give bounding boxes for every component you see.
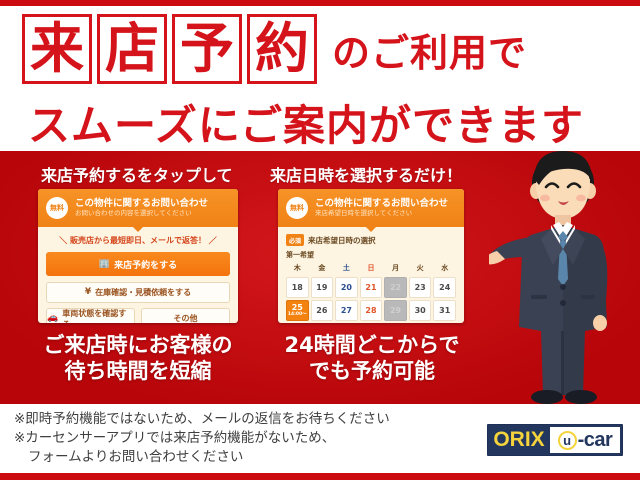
panel-heading-right: 来店日時を選択するだけ！ [270,162,462,186]
calendar-day-25[interactable]: 2514:00〜 [286,300,309,321]
car-icon: 🚗 [47,314,58,323]
other-button[interactable]: その他 [141,308,230,323]
calendar-dow-火: 火 [409,263,432,275]
stock-quote-button-label: 在庫確認・見積依頼をする [95,287,191,298]
calendar-day-27[interactable]: 27 [335,300,358,321]
reserve-visit-button-label: 来店予約をする [114,258,177,271]
headline-tail: のご利用で [332,22,527,77]
calendar-dow-月: 月 [384,263,407,275]
calendar-dow-金: 金 [311,263,334,275]
calendar-dow-水: 水 [433,263,456,275]
mock-inquiry-screen: 無料 この物件に関するお問い合わせ お問い合わせの内容を選択してください ＼ 販… [38,189,238,323]
preference-label: 第一希望 [286,250,456,260]
calendar-day-number: 28 [365,307,376,315]
calendar-day-18[interactable]: 18 [286,277,309,298]
calendar-day-number: 21 [365,284,376,292]
note-line-1: ※即時予約機能ではないため、メールの返信をお待ちください [14,410,390,429]
reserve-visit-button[interactable]: 🏢 来店予約をする [46,252,230,276]
mock-right-header: 無料 この物件に関するお問い合わせ 来店希望日時を選択してください [278,189,464,227]
headline-row-1: 来 店 予 約 のご利用で [22,14,527,84]
vehicle-condition-button[interactable]: 🚗 車両状態を確認する [46,308,135,323]
orix-ucar-logo: ORIX u -car [487,424,623,456]
header-notch [365,226,377,232]
calendar-day-number: 30 [415,307,426,315]
calendar-day-number: 23 [415,284,426,292]
calendar-day-number: 26 [316,307,327,315]
calendar-day-22: 22 [384,277,407,298]
kanji-box-4: 約 [247,14,317,84]
mock-right-header-sub: 来店希望日時を選択してください [315,210,448,217]
disclaimer-notes: ※即時予約機能ではないため、メールの返信をお待ちください ※カーセンサーアプリで… [14,410,390,467]
calendar-dow-土: 土 [335,263,358,275]
other-button-label: その他 [174,313,198,323]
caption-left-line1: ご来店時にお客様の [24,333,252,359]
calendar-day-number: 31 [439,307,450,315]
panel-heading-left: 来店予約するをタップして [41,162,233,186]
kanji-box-3: 予 [172,14,242,84]
kanji-box-1: 来 [22,14,92,84]
calendar-day-23[interactable]: 23 [409,277,432,298]
calendar-day-number: 29 [390,307,401,315]
note-line-2: ※カーセンサーアプリでは来店予約機能がないため、 [14,429,390,448]
stock-quote-button[interactable]: ¥ 在庫確認・見積依頼をする [46,282,230,303]
headline-block: 来 店 予 約 のご利用で スムーズにご案内ができます [0,6,640,151]
calendar-day-28[interactable]: 28 [360,300,383,321]
calendar-day-20[interactable]: 20 [335,277,358,298]
feature-panel: 来店予約するをタップして 来店日時を選択するだけ！ 無料 この物件に関するお問い… [0,151,640,404]
required-badge: 必須 [286,234,304,246]
ad-banner: 来 店 予 約 のご利用で スムーズにご案内ができます 来店予約するをタップして… [0,0,640,480]
logo-u-circle: u [558,431,577,450]
caption-right-line2: でも予約可能 [266,359,478,385]
caption-left-line2: 待ち時間を短縮 [24,359,252,385]
free-badge-icon: 無料 [286,197,308,219]
kanji-box-2: 店 [97,14,167,84]
mock-left-header: 無料 この物件に関するお問い合わせ お問い合わせの内容を選択してください [38,189,238,227]
calendar-day-31[interactable]: 31 [433,300,456,321]
calendar-day-21[interactable]: 21 [360,277,383,298]
mock-right-body: 必須 来店希望日時の選択 第一希望 木金土日月火水181920212223242… [278,227,464,323]
calendar-day-19[interactable]: 19 [311,277,334,298]
calendar-day-number: 22 [390,284,401,292]
calendar-day-number: 24 [439,284,450,292]
calendar-day-30[interactable]: 30 [409,300,432,321]
note-line-3: フォームよりお問い合わせください [14,448,390,467]
calendar-day-number: 27 [341,307,352,315]
header-notch [132,226,144,232]
calendar-day-number: 20 [341,284,352,292]
calendar-grid[interactable]: 木金土日月火水181920212223242514:00〜26272829303… [286,263,456,321]
calendar-dow-日: 日 [360,263,383,275]
caption-right-line1: 24時間どこからで [266,333,478,359]
headline-row-2: スムーズにご案内ができます [28,92,584,151]
calendar-day-24[interactable]: 24 [433,277,456,298]
calendar-day-26[interactable]: 26 [311,300,334,321]
logo-ucar-block: u -car [550,427,620,453]
calendar-day-number: 25 [292,304,303,312]
mock-left-button-row: 🚗 車両状態を確認する その他 [46,308,230,323]
free-badge-icon: 無料 [46,197,68,219]
calendar-day-29: 29 [384,300,407,321]
calendar-day-time: 14:00〜 [288,313,307,318]
calendar-tag-row: 必須 来店希望日時の選択 [286,234,456,246]
calendar-tag-label: 来店希望日時の選択 [308,235,376,246]
logo-car-text: -car [578,429,613,452]
mock-left-header-text: この物件に関するお問い合わせ お問い合わせの内容を選択してください [75,199,208,217]
yen-icon: ¥ [85,288,91,297]
mock-left-header-sub: お問い合わせの内容を選択してください [75,210,208,217]
store-icon: 🏢 [99,260,110,269]
mock-left-body: ＼ 販売店から最短即日、メールで返答！ ／ 🏢 来店予約をする ¥ 在庫確認・見… [38,227,238,323]
mock-right-header-text: この物件に関するお問い合わせ 来店希望日時を選択してください [315,199,448,217]
mock-calendar-screen: 無料 この物件に関するお問い合わせ 来店希望日時を選択してください 必須 来店希… [278,189,464,323]
caption-left: ご来店時にお客様の 待ち時間を短縮 [24,333,252,384]
calendar-day-number: 18 [292,284,303,292]
logo-orix-text: ORIX [488,425,550,455]
calendar-dow-木: 木 [286,263,309,275]
caption-right: 24時間どこからで でも予約可能 [266,333,478,384]
calendar-day-number: 19 [316,284,327,292]
salesman-illustration [489,151,635,404]
promo-line: ＼ 販売店から最短即日、メールで返答！ ／ [46,235,230,246]
bottom-rule [0,473,640,480]
vehicle-condition-button-label: 車両状態を確認する [62,308,134,324]
